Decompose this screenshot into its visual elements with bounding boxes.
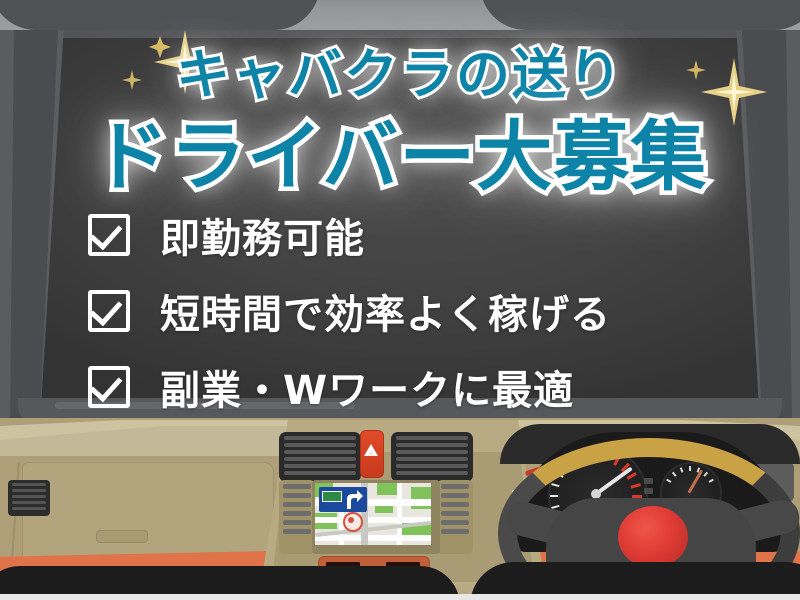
speaker-grille-right (437, 480, 473, 554)
air-vent-side-left (8, 480, 50, 516)
checkbox-checked-icon (88, 290, 130, 332)
list-item: 副業・Wワークに最適 (88, 358, 768, 416)
glovebox-handle[interactable] (96, 530, 148, 543)
air-vent-center-left (279, 432, 361, 482)
speaker-grille-left (279, 480, 315, 554)
checkbox-checked-icon (88, 366, 130, 408)
horn-button[interactable] (618, 506, 688, 568)
poster-canvas: キャバクラの送り ドライバー大募集 即勤務可能 短時間で効率よく稼げる 副業・W… (0, 0, 800, 600)
current-location-dot (348, 517, 354, 523)
list-item-label: 短時間で効率よく稼げる (160, 282, 611, 340)
turn-right-arrow-icon (344, 489, 364, 510)
list-item: 短時間で効率よく稼げる (88, 282, 768, 340)
list-item: 即勤務可能 (88, 206, 768, 264)
headline-main: ドライバー大募集 (0, 95, 800, 205)
checkbox-checked-icon (88, 214, 130, 256)
navigation-sign-label (322, 491, 342, 502)
list-item-label: 即勤務可能 (160, 206, 365, 264)
poster-text-block: キャバクラの送り ドライバー大募集 即勤務可能 短時間で効率よく稼げる 副業・W… (0, 0, 800, 420)
air-vent-center-right (391, 432, 473, 482)
benefits-list: 即勤務可能 短時間で効率よく稼げる 副業・Wワークに最適 (88, 206, 768, 434)
list-item-label: 副業・Wワークに最適 (160, 358, 574, 416)
bottom-border (0, 594, 800, 600)
warning-triangle-inner (367, 450, 375, 457)
